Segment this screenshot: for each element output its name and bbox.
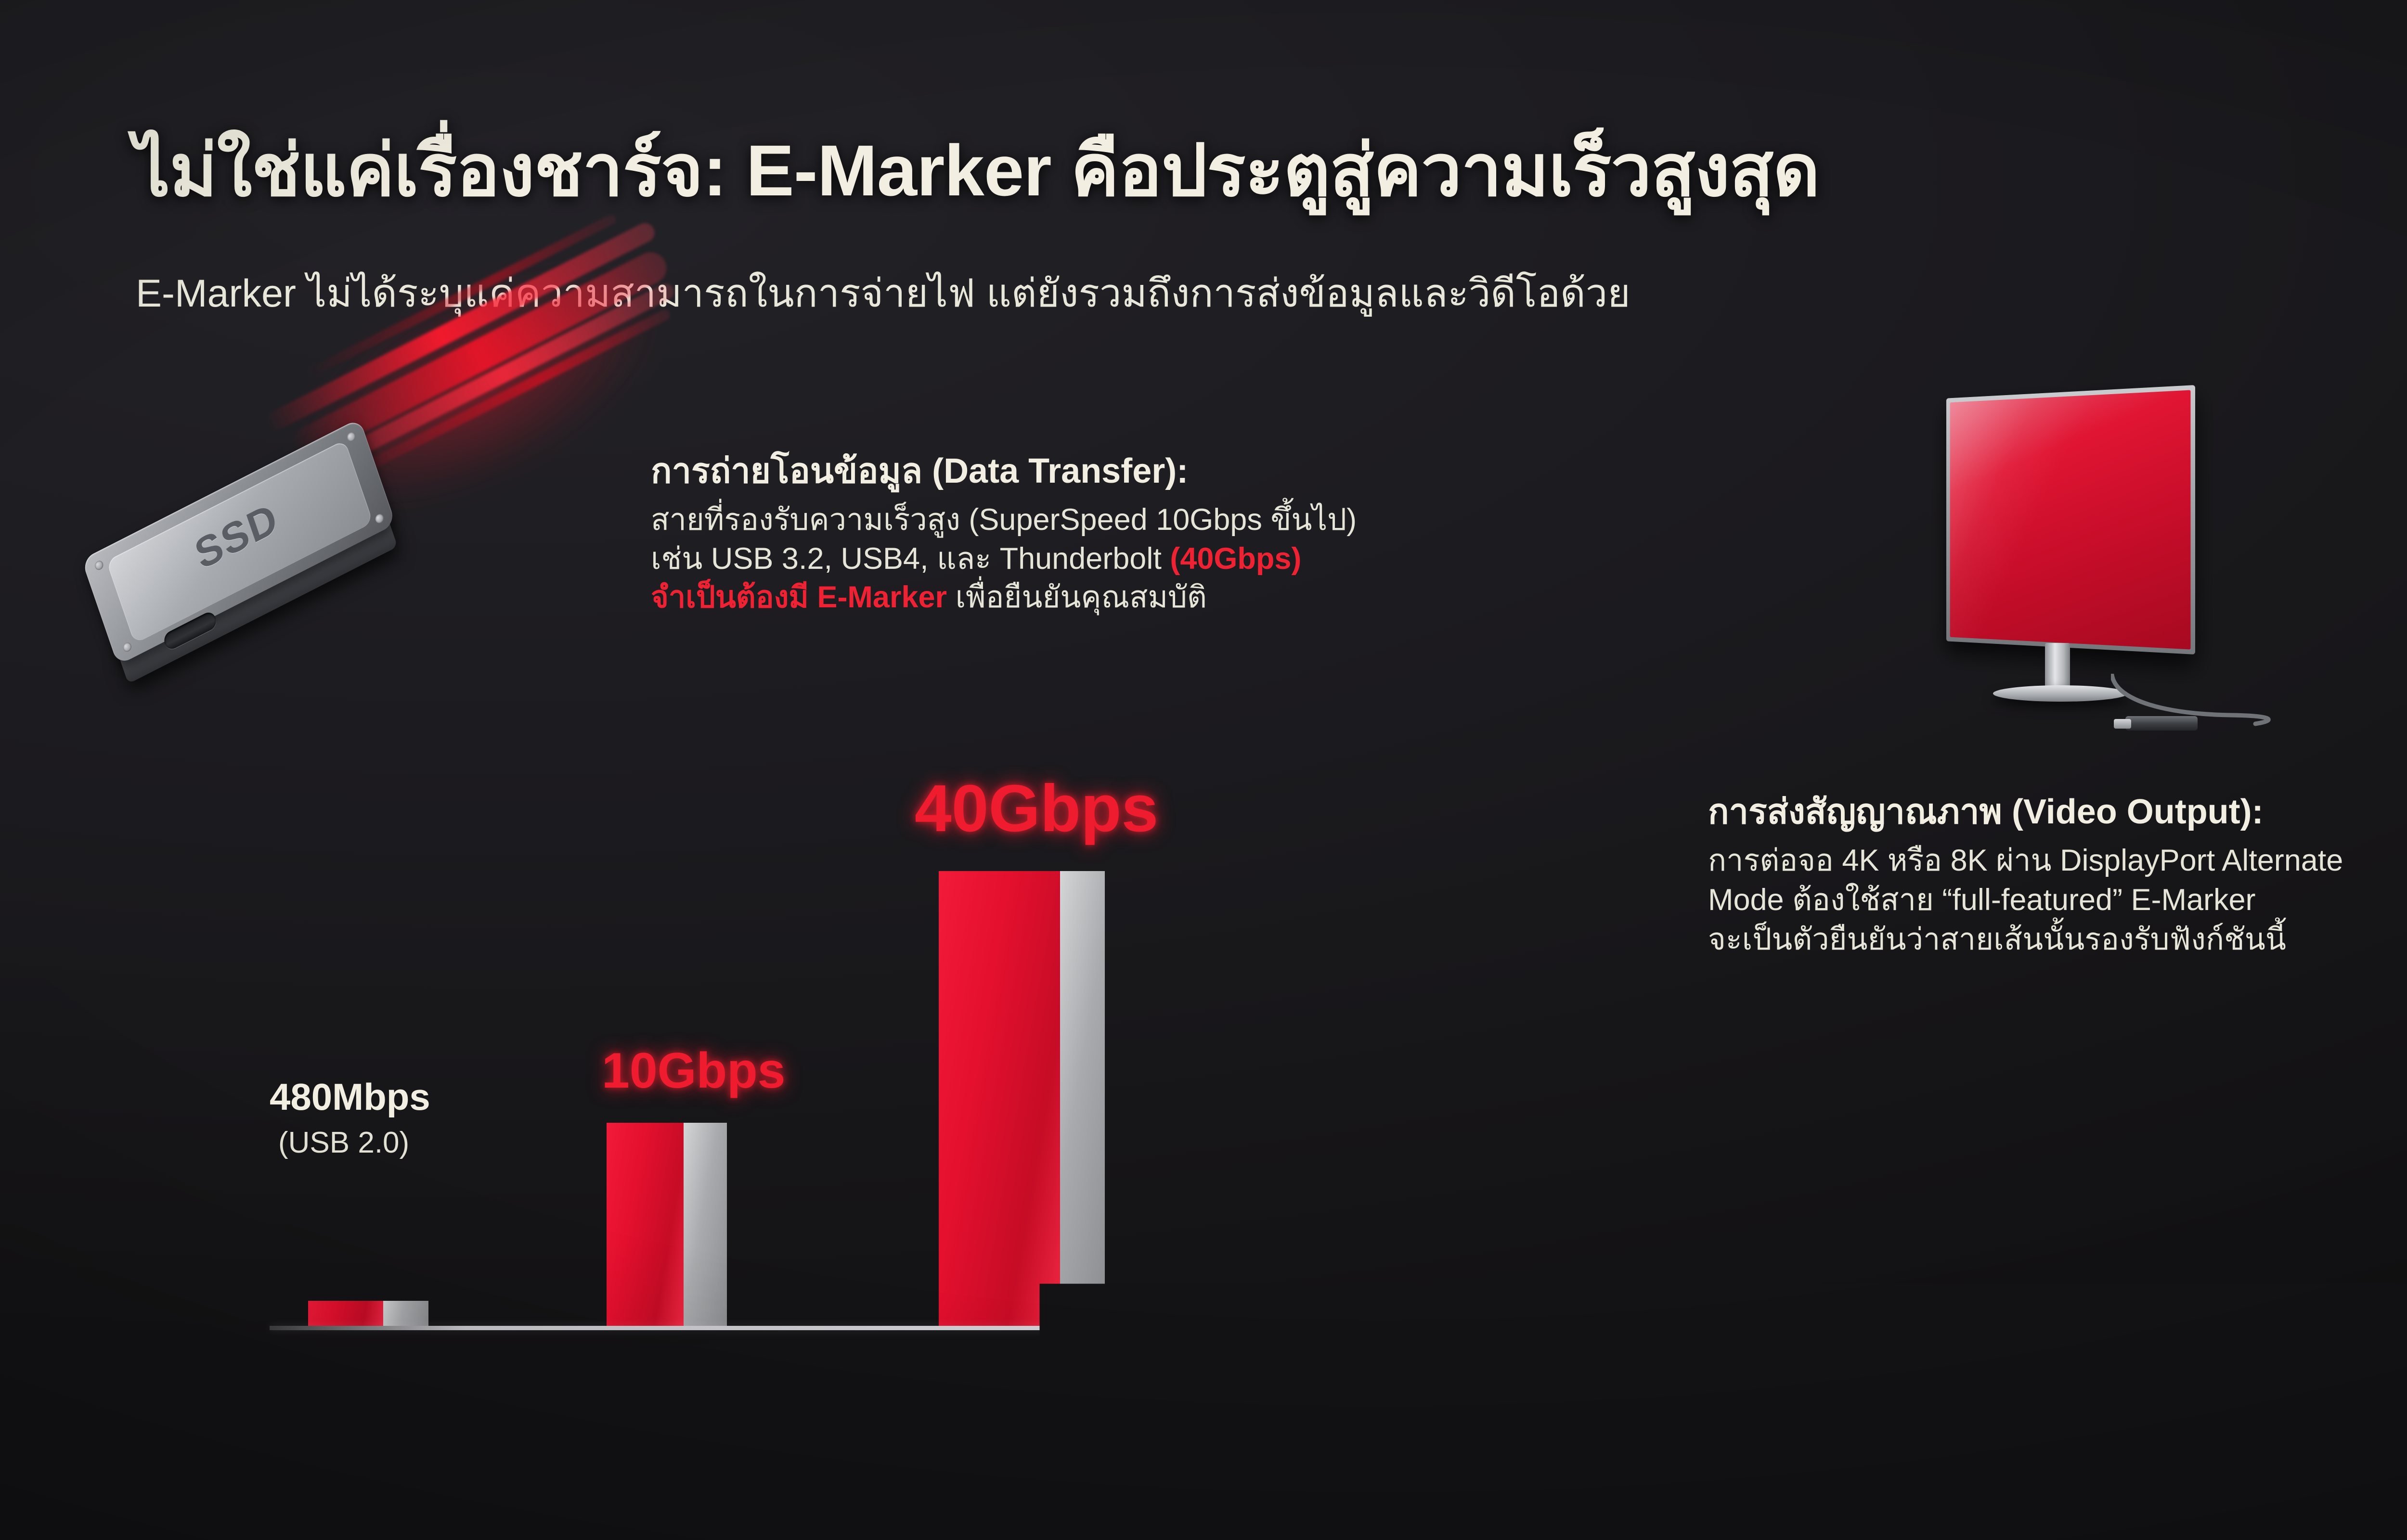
bar-40gbps (939, 871, 1105, 1326)
data-transfer-line-3-plain: เพื่อยืนยันคุณสมบัติ (947, 580, 1207, 614)
bar-label-10gbps: 10Gbps (602, 1042, 785, 1100)
display-cable-icon (2111, 674, 2318, 736)
chart-caption-line-2-plain: ซึ่งช้ากว่าถึง 20 เท่า! (332, 1410, 606, 1443)
video-output-line-2: Mode ต้องใช้สาย “full-featured” E-Marker (1708, 881, 2343, 920)
bar-sublabel-usb20: (USB 2.0) (278, 1126, 409, 1160)
page-title: ไม่ใช่แค่เรื่องชาร์จ: E-Marker คือประตูส… (134, 130, 2407, 211)
chart-caption-line-1: หากไม่มี E-Marker ระบบอาจลดความเร็วลงเหล… (182, 1368, 976, 1407)
chart-caption-line-2: (480Mbps) ซึ่งช้ากว่าถึง 20 เท่า! (182, 1407, 976, 1447)
data-transfer-line-2-plain: เช่น USB 3.2, USB4, และ Thunderbolt (651, 542, 1170, 576)
slide-canvas: ไม่ใช่แค่เรื่องชาร์จ: E-Marker คือประตูส… (0, 0, 2407, 1540)
monitor-icon (1946, 385, 2195, 654)
data-transfer-line-3: จำเป็นต้องมี E-Marker เพื่อยืนยันคุณสมบั… (651, 578, 1357, 617)
monitor-illustration (1892, 385, 2373, 751)
video-output-body: การต่อจอ 4K หรือ 8K ผ่าน DisplayPort Alt… (1708, 841, 2343, 960)
chart-caption-speed: (480Mbps) (182, 1410, 332, 1443)
bar-10gbps (607, 1123, 727, 1326)
data-transfer-body: สายที่รองรับความเร็วสูง (SuperSpeed 10Gb… (651, 500, 1357, 617)
chart-caption: หากไม่มี E-Marker ระบบอาจลดความเร็วลงเหล… (182, 1368, 976, 1447)
chart-baseline (270, 1326, 1358, 1330)
ssd-illustration: SSD (87, 371, 655, 707)
usb-c-connector-icon (2125, 716, 2198, 731)
ssd-drive-icon: SSD (70, 384, 450, 748)
data-transfer-heading: การถ่ายโอนข้อมูล (Data Transfer): (651, 443, 1188, 498)
monitor-screen (1950, 390, 2191, 649)
data-transfer-speed-badge: (40Gbps) (1170, 542, 1301, 576)
speed-comparison-chart: 480Mbps (USB 2.0) 10Gbps 40Gbps (250, 751, 1377, 1347)
bar-480mbps (308, 1301, 428, 1326)
monitor-stand-neck (2045, 643, 2070, 689)
bar-label-40gbps: 40Gbps (915, 770, 1158, 847)
video-output-line-1: การต่อจอ 4K หรือ 8K ผ่าน DisplayPort Alt… (1708, 841, 2343, 881)
data-transfer-line-2: เช่น USB 3.2, USB4, และ Thunderbolt (40G… (651, 539, 1357, 578)
video-output-line-3: จะเป็นตัวยืนยันว่าสายเส้นนั้นรองรับฟังก์… (1708, 920, 2343, 960)
bar-label-480mbps: 480Mbps (270, 1075, 430, 1119)
monitor-stand-base (1993, 685, 2128, 702)
video-output-heading: การส่งสัญญาณภาพ (Video Output): (1708, 783, 2264, 839)
data-transfer-line-1: สายที่รองรับความเร็วสูง (SuperSpeed 10Gb… (651, 500, 1357, 539)
data-transfer-requirement: จำเป็นต้องมี E-Marker (651, 580, 947, 614)
